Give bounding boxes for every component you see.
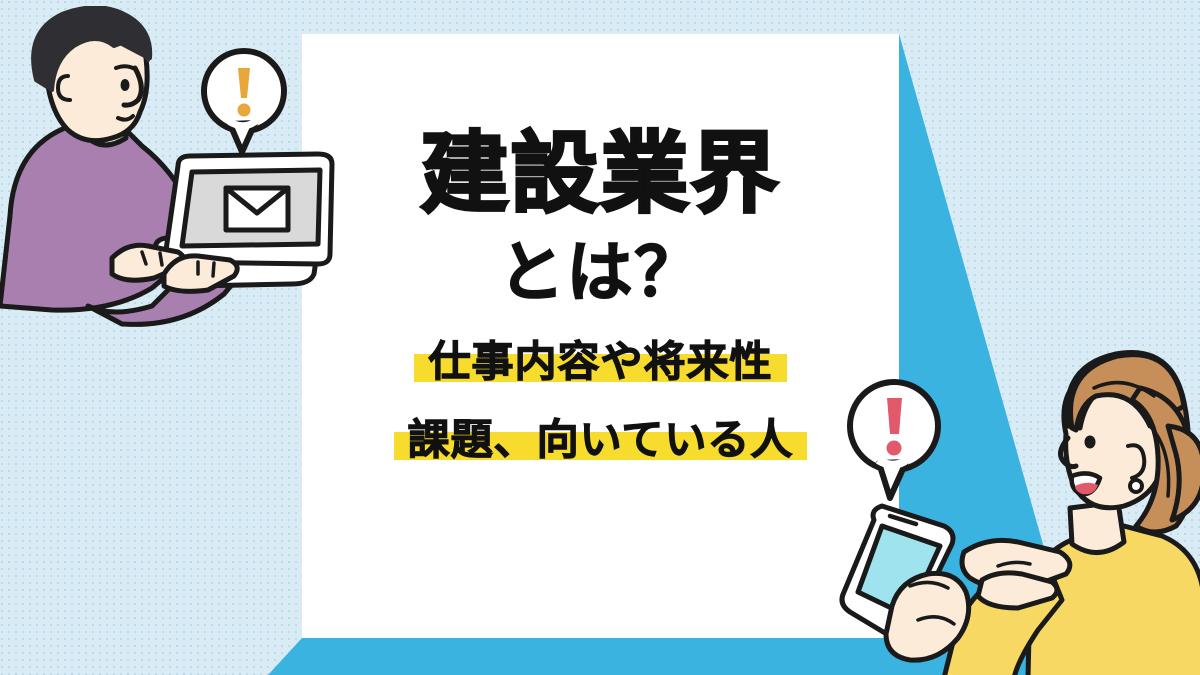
page-title-main: 建設業界	[420, 130, 780, 218]
illustration-man-with-laptop	[0, 6, 352, 336]
card-text-block: 建設業界 とは？ 仕事内容や将来性 課題、向いている人	[302, 34, 899, 638]
highlighted-line-1-wrap: 仕事内容や将来性	[428, 340, 772, 384]
speech-bubble-orange	[204, 51, 284, 152]
poster-canvas: 建設業界 とは？ 仕事内容や将来性 課題、向いている人	[0, 0, 1200, 675]
highlighted-line-2-wrap: 課題、向いている人	[408, 418, 794, 462]
highlighted-line-1: 仕事内容や将来性	[428, 337, 772, 386]
page-title-sub: とは？	[499, 240, 703, 306]
highlighted-line-2: 課題、向いている人	[408, 415, 794, 464]
